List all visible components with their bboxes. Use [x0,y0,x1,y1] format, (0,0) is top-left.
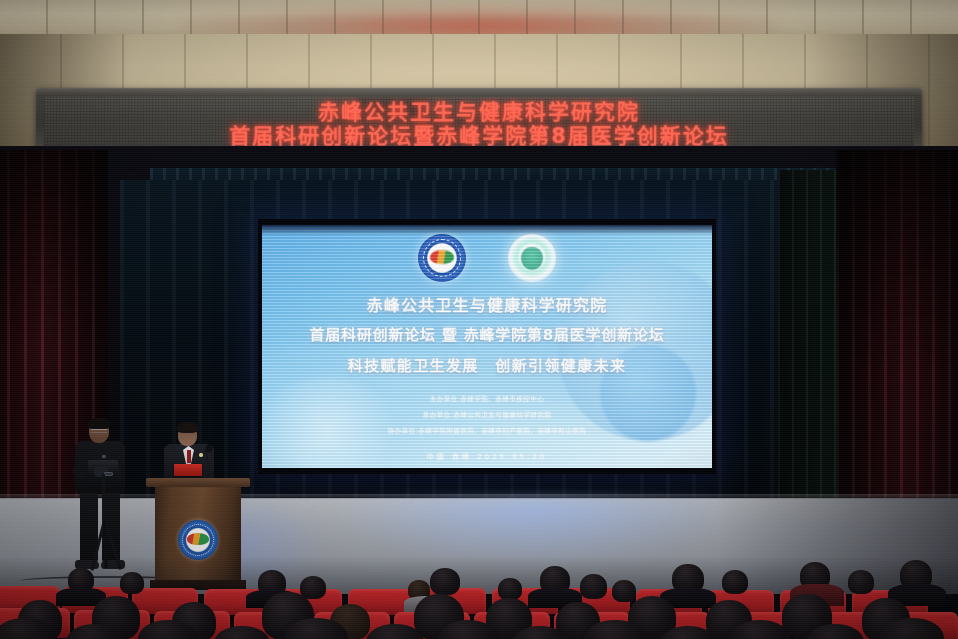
slide-organizer-block: 主办单位:赤峰学院、赤峰市疾控中心 承办单位:赤峰公共卫生与健康科学研究院 协办… [388,393,587,435]
slide-footer-date: 中国 赤峰 2025.05.20 [427,452,548,462]
slide-organizer-line: 承办单位:赤峰公共卫生与健康科学研究院 [423,409,552,419]
led-banner-text: 赤峰公共卫生与健康科学研究院 首届科研创新论坛暨赤峰学院第8届医学创新论坛 [44,97,915,151]
operator-hair [88,418,110,429]
health-logo-green-icon [508,234,556,282]
podium-nameplate [174,464,202,476]
slide-title-line-2: 首届科研创新论坛 暨 赤峰学院第8届医学创新论坛 [309,324,664,347]
slide-logo-row [418,234,556,282]
audience-head [848,570,874,594]
led-banner-panel: 赤峰公共卫生与健康科学研究院 首届科研创新论坛暨赤峰学院第8届医学创新论坛 [44,97,915,151]
speaker-tie [187,450,191,463]
led-banner-line-2: 首届科研创新论坛暨赤峰学院第8届医学创新论坛 [229,125,729,147]
audience-head [612,580,636,602]
led-banner-line-1: 赤峰公共卫生与健康科学研究院 [318,101,640,123]
slide-organizer-line: 主办单位:赤峰学院、赤峰市疾控中心 [430,393,545,403]
speaker-lapel-pin [199,453,203,457]
glasses-icon [91,429,107,433]
speaker-hair [177,422,198,433]
slide-organizer-line: 协办单位:赤峰学院附属医院、赤峰市妇产医院、赤峰市松山医院 [388,425,587,435]
podium-top-surface [146,478,250,487]
audience-head [498,578,522,600]
institute-logo-blue-icon [418,234,466,282]
audience-head [722,570,748,594]
audience-seating [0,556,958,639]
auditorium-photo: 赤峰公共卫生与健康科学研究院 首届科研创新论坛暨赤峰学院第8届医学创新论坛 [0,0,958,639]
podium-emblem-icon [178,520,218,560]
slide-content: 赤峰公共卫生与健康科学研究院 首届科研创新论坛 暨 赤峰学院第8届医学创新论坛 … [262,225,712,468]
audience-head [580,574,607,599]
screen-top-shadow [262,225,712,235]
slide-title-line-3: 科技赋能卫生发展 创新引领健康未来 [348,355,627,378]
slide-title-line-1: 赤峰公共卫生与健康科学研究院 [367,294,608,318]
projection-screen: 赤峰公共卫生与健康科学研究院 首届科研创新论坛 暨 赤峰学院第8届医学创新论坛 … [262,225,712,468]
audience-head [120,572,144,594]
audience-head [430,568,460,595]
wristwatch-icon [104,472,113,476]
tripod-column [102,474,105,526]
